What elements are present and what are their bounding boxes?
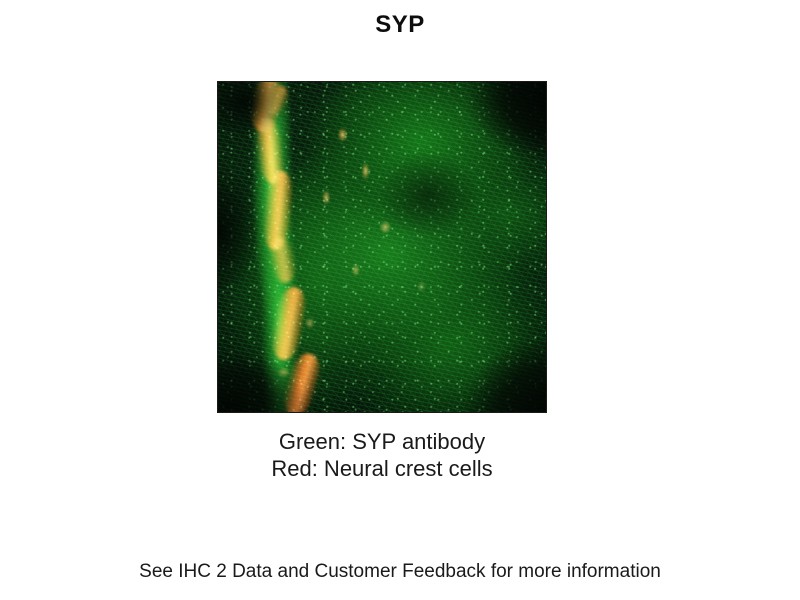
micrograph-canvas xyxy=(218,82,546,412)
footer-note: See IHC 2 Data and Customer Feedback for… xyxy=(0,561,800,583)
micrograph-image xyxy=(218,82,546,412)
caption-line-red: Red: Neural crest cells xyxy=(218,455,546,482)
vignette-overlay xyxy=(218,82,546,412)
figure-caption: Green: SYP antibody Red: Neural crest ce… xyxy=(218,428,546,482)
figure-title: SYP xyxy=(0,11,800,39)
caption-line-green: Green: SYP antibody xyxy=(218,428,546,455)
